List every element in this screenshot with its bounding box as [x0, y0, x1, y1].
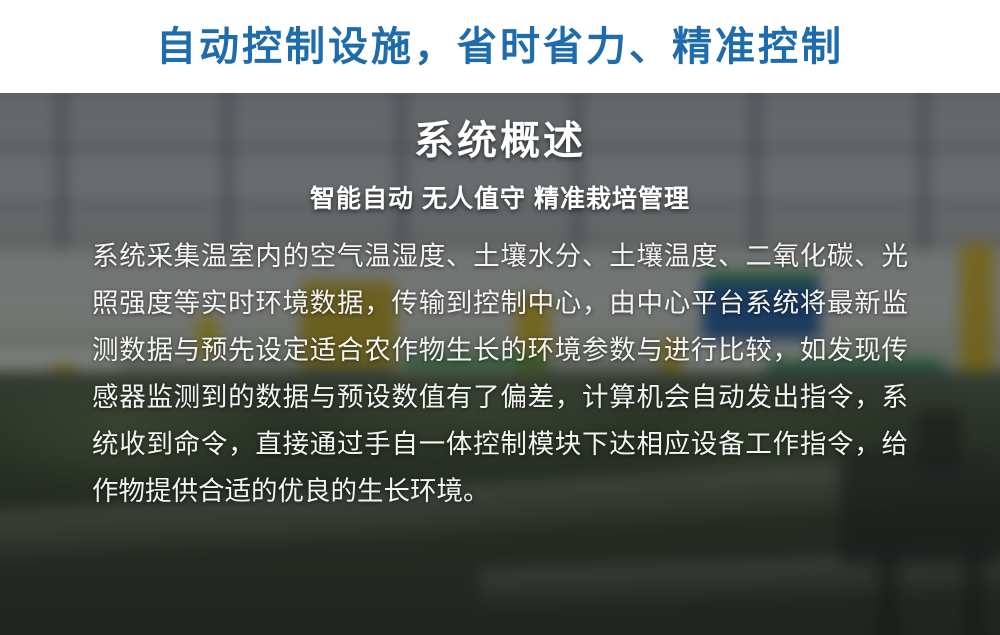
promo-page: 自动控制设施，省时省力、精准控制	[0, 0, 1000, 635]
header-band: 自动控制设施，省时省力、精准控制	[0, 0, 1000, 93]
overview-photo-panel: 系统概述 智能自动 无人值守 精准栽培管理 系统采集温室内的空气温湿度、土壤水分…	[0, 93, 1000, 635]
overview-content: 系统概述 智能自动 无人值守 精准栽培管理 系统采集温室内的空气温湿度、土壤水分…	[0, 93, 1000, 635]
overview-subtitle: 智能自动 无人值守 精准栽培管理	[92, 179, 908, 215]
overview-body-text: 系统采集温室内的空气温湿度、土壤水分、土壤温度、二氧化碳、光照强度等实时环境数据…	[92, 233, 908, 515]
overview-title: 系统概述	[92, 117, 908, 165]
page-headline: 自动控制设施，省时省力、精准控制	[156, 27, 844, 67]
